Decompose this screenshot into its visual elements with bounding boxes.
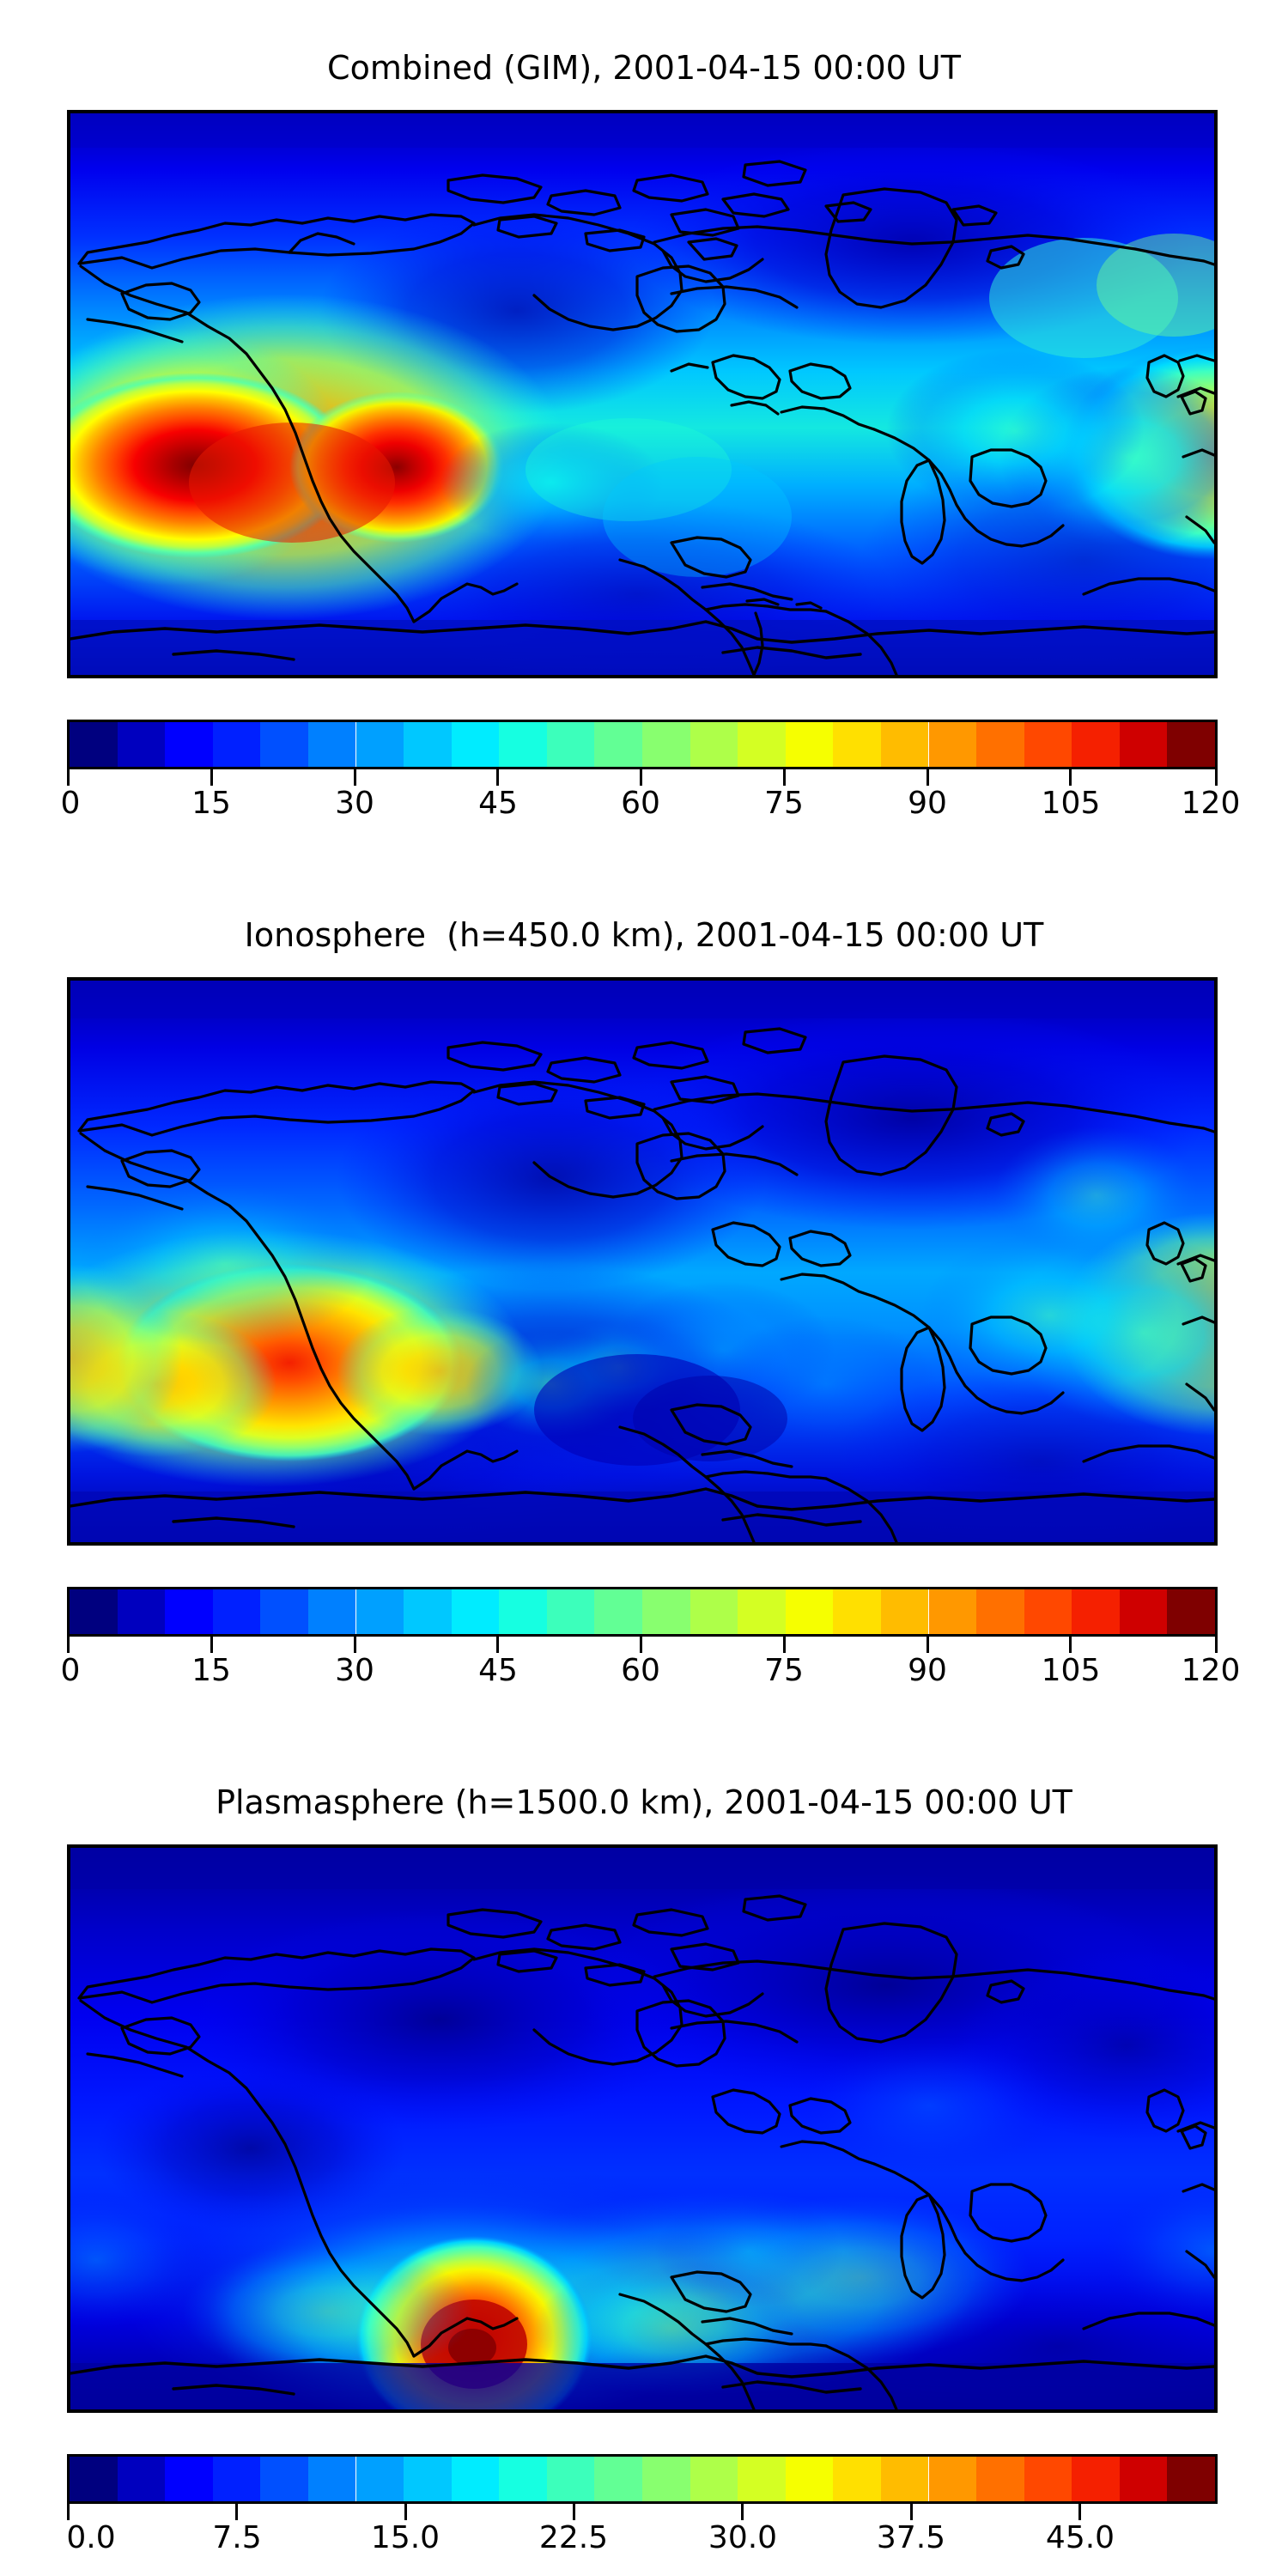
panel-combined-gim: Combined (GIM), 2001-04-15 00:00 UT bbox=[0, 0, 1288, 859]
colorbar-tick-label: 45.0 bbox=[1046, 2523, 1115, 2554]
colorbar-tick-label: 120 bbox=[1182, 788, 1241, 819]
colorbar-tick-label: 0 bbox=[61, 788, 81, 819]
panel-plasmasphere: Plasmasphere (h=1500.0 km), 2001-04-15 0… bbox=[0, 1735, 1288, 2576]
colorbar-tick-label: 37.5 bbox=[877, 2523, 945, 2554]
colorbar-tick-label: 90 bbox=[908, 788, 947, 819]
colorbar-gradient-ionosphere bbox=[67, 1587, 1218, 1637]
panel-title-plasmasphere: Plasmasphere (h=1500.0 km), 2001-04-15 0… bbox=[0, 1786, 1288, 1819]
map-canvas-ionosphere bbox=[70, 981, 1214, 1542]
colorbar-ionosphere: 0 15 30 45 60 75 90 105 120 bbox=[67, 1587, 1218, 1707]
colorbar-tick-label: 90 bbox=[908, 1656, 947, 1686]
colorbar-tick-label: 30 bbox=[335, 1656, 374, 1686]
colorbar-plasmasphere: 0.0 7.5 15.0 22.5 30.0 37.5 45.0 bbox=[67, 2454, 1218, 2574]
colorbar-axis-plasmasphere: 0.0 7.5 15.0 22.5 30.0 37.5 45.0 bbox=[67, 2504, 1218, 2573]
colorbar-tick-label: 45 bbox=[478, 788, 518, 819]
colorbar-tick-label: 60 bbox=[621, 1656, 660, 1686]
map-plot-ionosphere bbox=[67, 977, 1218, 1546]
colorbar-tick-label: 45 bbox=[478, 1656, 518, 1686]
colorbar-tick-label: 0.0 bbox=[66, 2523, 115, 2554]
colorbar-tick-label: 7.5 bbox=[212, 2523, 261, 2554]
colorbar-tick-label: 60 bbox=[621, 788, 660, 819]
colorbar-axis-combined-gim: 0 15 30 45 60 75 90 105 120 bbox=[67, 769, 1218, 838]
colorbar-combined-gim: 0 15 30 45 60 75 90 105 120 bbox=[67, 720, 1218, 840]
colorbar-tick-label: 0 bbox=[61, 1656, 81, 1686]
tec-map-figure: Combined (GIM), 2001-04-15 00:00 UT bbox=[0, 0, 1288, 2576]
colorbar-tick-label: 30.0 bbox=[708, 2523, 777, 2554]
panel-ionosphere: Ionosphere (h=450.0 km), 2001-04-15 00:0… bbox=[0, 867, 1288, 1726]
colorbar-gradient-combined-gim bbox=[67, 720, 1218, 769]
map-plot-combined-gim bbox=[67, 110, 1218, 678]
panel-title-combined-gim: Combined (GIM), 2001-04-15 00:00 UT bbox=[0, 52, 1288, 84]
colorbar-tick-label: 15 bbox=[191, 788, 231, 819]
colorbar-tick-label: 105 bbox=[1042, 788, 1101, 819]
colorbar-tick-label: 105 bbox=[1042, 1656, 1101, 1686]
colorbar-gradient-plasmasphere bbox=[67, 2454, 1218, 2504]
colorbar-axis-ionosphere: 0 15 30 45 60 75 90 105 120 bbox=[67, 1637, 1218, 1705]
map-plot-plasmasphere bbox=[67, 1844, 1218, 2413]
panel-title-ionosphere: Ionosphere (h=450.0 km), 2001-04-15 00:0… bbox=[0, 919, 1288, 951]
map-canvas-combined-gim bbox=[70, 113, 1214, 675]
colorbar-tick-label: 15 bbox=[191, 1656, 231, 1686]
colorbar-tick-label: 15.0 bbox=[371, 2523, 440, 2554]
colorbar-tick-label: 120 bbox=[1182, 1656, 1241, 1686]
colorbar-tick-label: 75 bbox=[764, 788, 804, 819]
map-canvas-plasmasphere bbox=[70, 1848, 1214, 2409]
colorbar-tick-label: 22.5 bbox=[539, 2523, 608, 2554]
colorbar-tick-label: 30 bbox=[335, 788, 374, 819]
colorbar-tick-label: 75 bbox=[764, 1656, 804, 1686]
